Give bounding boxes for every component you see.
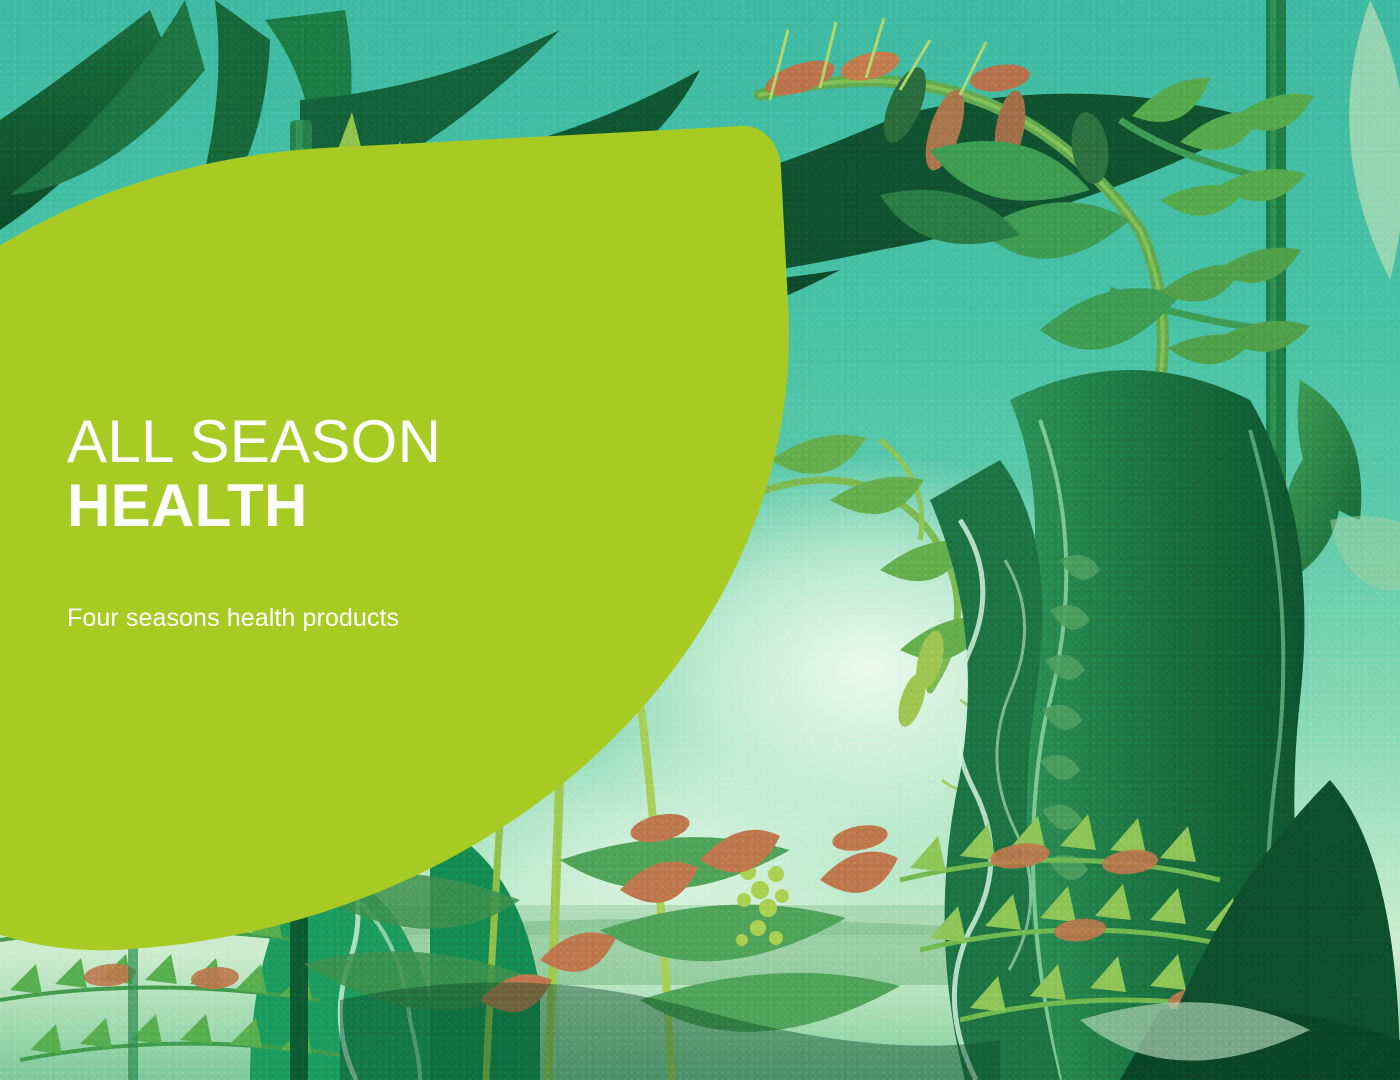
promo-banner: ALL SEASON HEALTH Four seasons health pr… [0,0,1400,1080]
subtitle-text: Four seasons health products [67,604,687,633]
title-line-1: ALL SEASON [67,410,687,474]
title-line-2: HEALTH [67,474,687,538]
headline-block: ALL SEASON HEALTH Four seasons health pr… [67,410,687,633]
pale-blade-right-top [1349,0,1400,280]
